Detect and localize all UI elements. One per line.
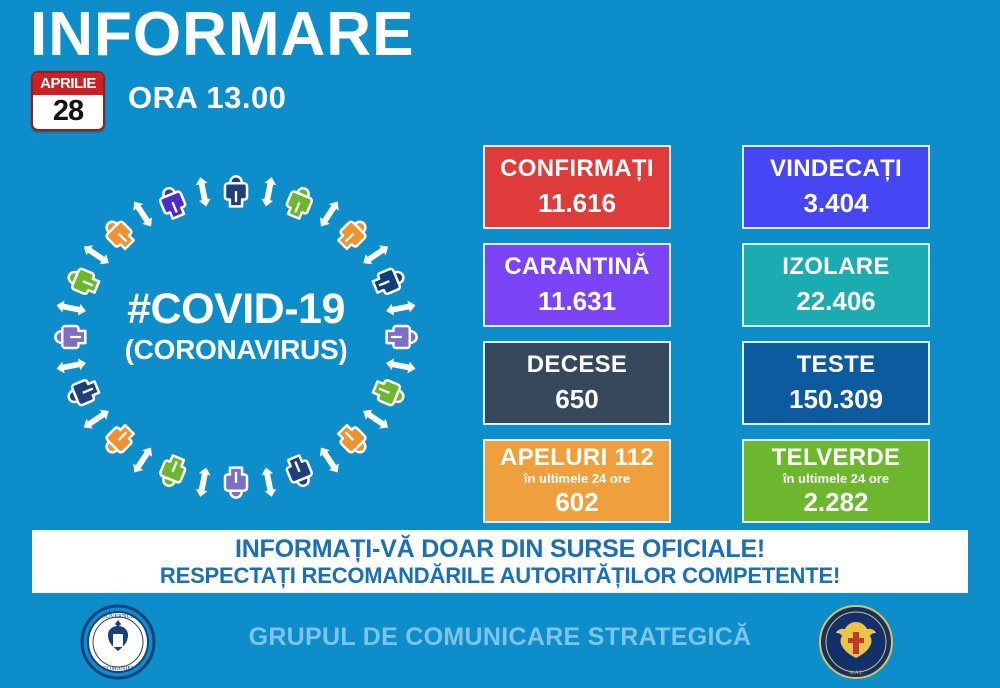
person-figure-icon	[157, 184, 189, 220]
stat-label-vindecati: VINDECAȚI	[770, 156, 902, 182]
double-arrow-icon	[260, 176, 278, 208]
stat-label-decese: DECESE	[527, 352, 628, 378]
stat-label-telverde: TELVERDE	[772, 445, 901, 471]
person-figure-icon	[225, 468, 247, 498]
person-figure-icon	[101, 422, 138, 459]
stat-box-vindecati: VINDECAȚI3.404	[742, 145, 930, 229]
calendar-icon: APRILIE 28	[31, 71, 105, 131]
double-arrow-icon	[385, 357, 417, 375]
person-figure-icon	[335, 422, 372, 459]
page-title: INFORMARE	[30, 2, 414, 67]
double-arrow-icon	[129, 198, 156, 230]
double-arrow-icon	[55, 357, 87, 375]
stat-box-carantina: CARANTINĂ11.631	[483, 243, 671, 327]
stat-value-carantina: 11.631	[538, 287, 616, 316]
double-arrow-icon	[316, 198, 343, 230]
stat-value-teste: 150.309	[789, 385, 883, 414]
svg-text:ROMANIEI: ROMANIEI	[103, 666, 133, 672]
double-arrow-icon	[129, 444, 156, 476]
stat-label-carantina: CARANTINĂ	[504, 254, 649, 280]
person-figure-icon	[65, 265, 101, 297]
double-arrow-icon	[385, 299, 417, 317]
person-figure-icon	[225, 176, 247, 206]
stat-value-izolare: 22.406	[796, 287, 876, 316]
stat-box-decese: DECESE650	[483, 341, 671, 425]
stat-value-confirmati: 11.616	[538, 189, 616, 218]
double-arrow-icon	[360, 241, 392, 268]
stat-value-decese: 650	[555, 385, 598, 414]
footer-organization: GRUPUL DE COMUNICARE STRATEGICĂ	[0, 623, 1000, 652]
official-sources-banner: INFORMAȚI-VĂ DOAR DIN SURSE OFICIALE! RE…	[32, 530, 968, 593]
stat-sub-apeluri-112: în ultimele 24 ore	[524, 472, 630, 487]
stat-label-confirmati: CONFIRMAȚI	[500, 156, 654, 182]
stat-box-teste: TESTE150.309	[742, 341, 930, 425]
double-arrow-icon	[194, 466, 212, 498]
stat-box-telverde: TELVERDEîn ultimele 24 ore2.282	[742, 439, 930, 523]
person-figure-icon	[335, 216, 372, 253]
person-figure-icon	[55, 326, 85, 348]
double-arrow-icon	[81, 241, 113, 268]
stat-box-apeluri-112: APELURI 112în ultimele 24 ore602	[483, 439, 671, 523]
person-figure-icon	[65, 377, 101, 409]
covid-informare-poster: INFORMARE APRILIE 28 ORA 13.00 #COVID-19…	[0, 0, 1000, 688]
svg-text:M.A.I.: M.A.I.	[849, 671, 862, 676]
people-circle-svg	[36, 165, 436, 510]
statistics-grid: CONFIRMAȚI11.616VINDECAȚI3.404CARANTINĂ1…	[483, 145, 930, 523]
banner-line1: INFORMAȚI-VĂ DOAR DIN SURSE OFICIALE!	[235, 535, 765, 563]
stat-value-apeluri-112: 602	[555, 488, 598, 517]
stat-label-izolare: IZOLARE	[782, 254, 889, 280]
person-figure-icon	[101, 216, 138, 253]
person-figure-icon	[283, 184, 315, 220]
person-figure-icon	[283, 454, 315, 490]
person-figure-icon	[157, 454, 189, 490]
report-hour: ORA 13.00	[128, 80, 286, 116]
calendar-month: APRILIE	[33, 73, 103, 95]
stat-value-vindecati: 3.404	[803, 189, 868, 218]
stat-box-confirmati: CONFIRMAȚI11.616	[483, 145, 671, 229]
banner-line2: RESPECTAȚI RECOMANDĂRILE AUTORITĂȚILOR C…	[160, 563, 840, 588]
person-figure-icon	[371, 377, 407, 409]
stat-sub-telverde: în ultimele 24 ore	[783, 472, 889, 487]
covid-people-circle-icon	[36, 165, 436, 510]
double-arrow-icon	[316, 444, 343, 476]
stat-box-izolare: IZOLARE22.406	[742, 243, 930, 327]
svg-text:·GUVERNUL·: ·GUVERNUL·	[100, 614, 137, 620]
double-arrow-icon	[360, 406, 392, 433]
stat-label-teste: TESTE	[797, 352, 876, 378]
stat-label-apeluri-112: APELURI 112	[500, 445, 654, 471]
double-arrow-icon	[55, 299, 87, 317]
stat-value-telverde: 2.282	[803, 488, 868, 517]
person-figure-icon	[387, 326, 417, 348]
double-arrow-icon	[194, 176, 212, 208]
person-figure-icon	[371, 265, 407, 297]
calendar-day: 28	[33, 95, 103, 129]
double-arrow-icon	[260, 466, 278, 498]
double-arrow-icon	[81, 406, 113, 433]
